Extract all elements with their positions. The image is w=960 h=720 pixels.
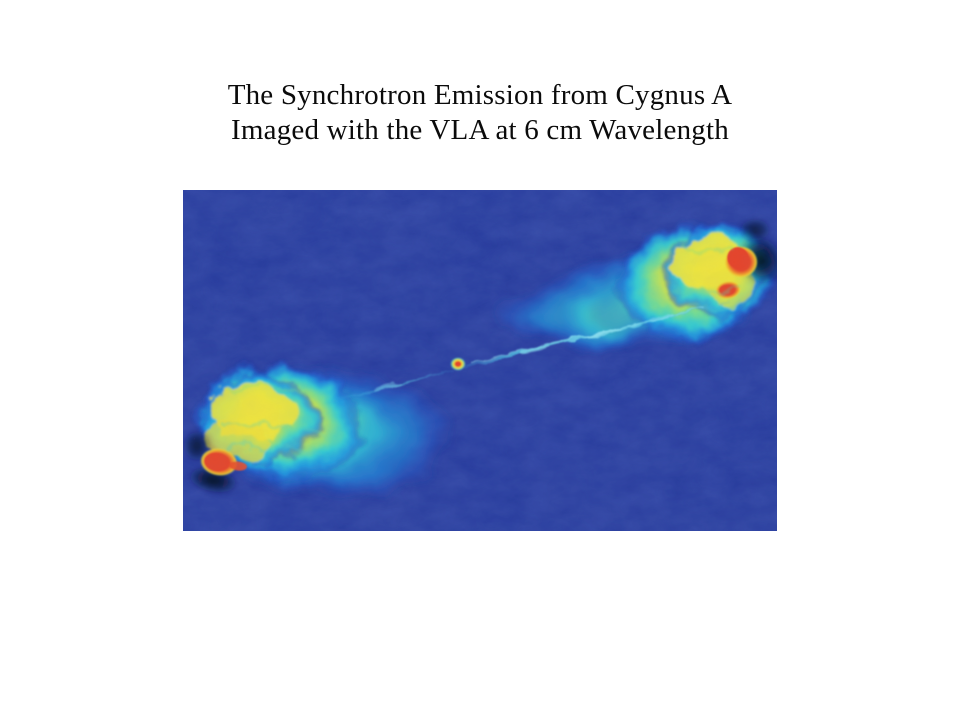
title-line-1: The Synchrotron Emission from Cygnus A bbox=[0, 78, 960, 113]
title-line-2: Imaged with the VLA at 6 cm Wavelength bbox=[0, 113, 960, 148]
slide-title: The Synchrotron Emission from Cygnus A I… bbox=[0, 78, 960, 149]
radio-image-figure bbox=[183, 190, 777, 531]
slide-canvas: The Synchrotron Emission from Cygnus A I… bbox=[0, 0, 960, 720]
cygnus-a-radio-map bbox=[183, 190, 777, 531]
map-noise-overlay bbox=[183, 190, 777, 531]
